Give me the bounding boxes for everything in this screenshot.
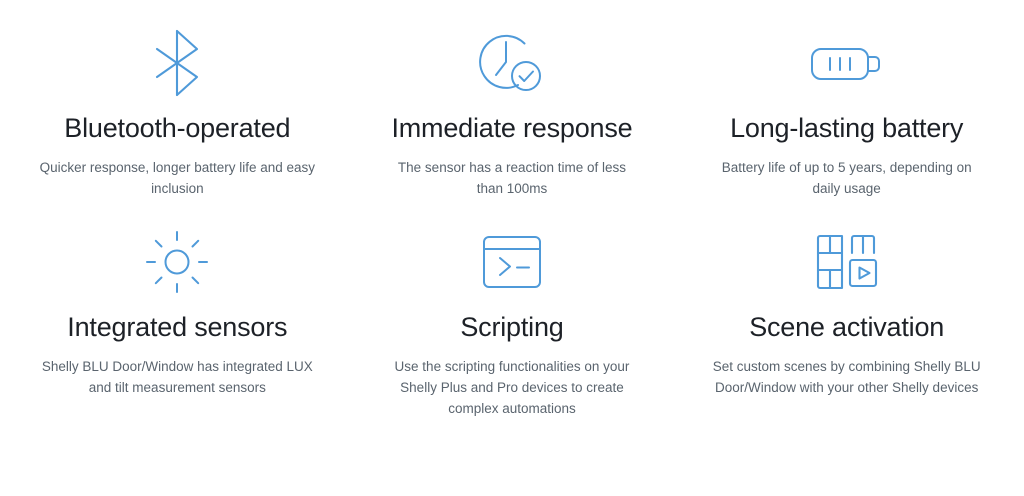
feature-card-immediate-response: Immediate response The sensor has a reac…: [345, 26, 680, 199]
bluetooth-icon: [147, 26, 207, 100]
feature-card-bluetooth-operated: Bluetooth-operated Quicker response, lon…: [10, 26, 345, 199]
terminal-window-icon: [479, 225, 545, 299]
scene-play-grid-icon: [812, 225, 882, 299]
feature-card-scene-activation: Scene activation Set custom scenes by co…: [679, 225, 1014, 419]
feature-description: Quicker response, longer battery life an…: [34, 157, 320, 199]
feature-title: Scripting: [460, 311, 563, 344]
feature-description: Shelly BLU Door/Window has integrated LU…: [33, 356, 321, 398]
feature-title: Immediate response: [391, 112, 632, 145]
feature-title: Bluetooth-operated: [64, 112, 290, 145]
feature-description: Use the scripting functionalities on you…: [376, 356, 648, 419]
feature-title: Long-lasting battery: [730, 112, 963, 145]
battery-icon: [808, 26, 886, 100]
feature-card-integrated-sensors: Integrated sensors Shelly BLU Door/Windo…: [10, 225, 345, 419]
feature-title: Scene activation: [749, 311, 944, 344]
feature-description: Set custom scenes by combining Shelly BL…: [710, 356, 984, 398]
feature-grid: Bluetooth-operated Quicker response, lon…: [0, 0, 1024, 419]
feature-description: Battery life of up to 5 years, depending…: [707, 157, 987, 199]
feature-title: Integrated sensors: [67, 311, 287, 344]
feature-card-long-lasting-battery: Long-lasting battery Battery life of up …: [679, 26, 1014, 199]
feature-card-scripting: Scripting Use the scripting functionalit…: [345, 225, 680, 419]
feature-description: The sensor has a reaction time of less t…: [387, 157, 637, 199]
clock-check-icon: [476, 26, 548, 100]
sun-brightness-icon: [143, 225, 211, 299]
